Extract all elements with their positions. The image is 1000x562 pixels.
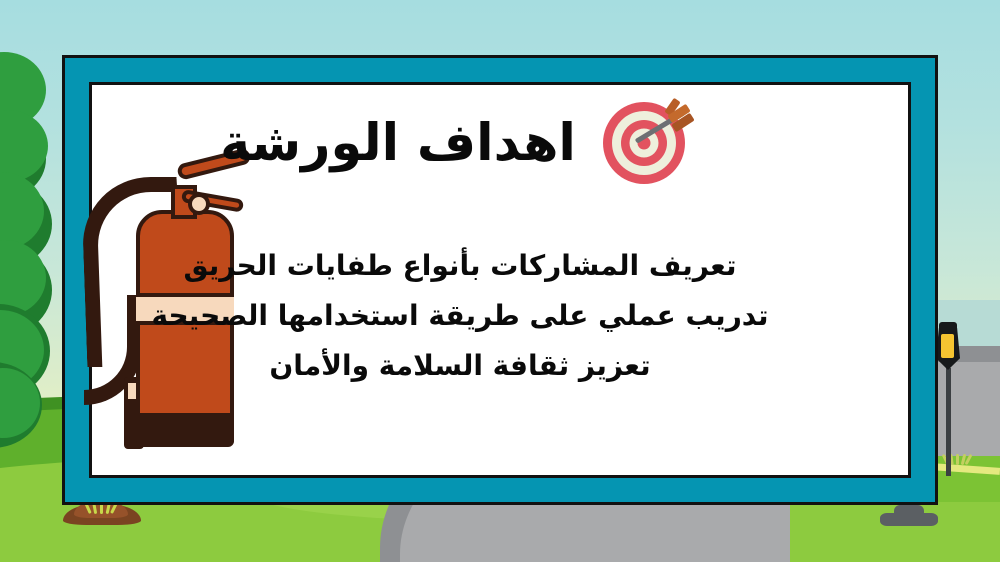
title-row: اهداف الورشة [110,100,800,186]
objective-item: تدريب عملي على طريقة استخدامها الصحيحة [120,298,800,334]
page-title: اهداف الورشة [220,118,576,169]
objective-item: تعريف المشاركات بأنواع طفايات الحريق [120,248,800,284]
billboard-post-foot [880,513,938,526]
target-with-arrow-icon [598,101,690,185]
street-lamp-glass [941,334,954,358]
extinguisher-pressure-gauge [188,193,210,215]
street-lamp-cap [939,322,957,330]
objective-item: تعزيز ثقافة السلامة والأمان [120,348,800,384]
street-lamp-pole [946,368,951,476]
objectives-list: تعريف المشاركات بأنواع طفايات الحريق تدر… [120,248,800,397]
slide-canvas: اهداف الورشة تعريف المشاركات بأنواع طفاي… [0,0,1000,562]
extinguisher-base [136,413,234,447]
